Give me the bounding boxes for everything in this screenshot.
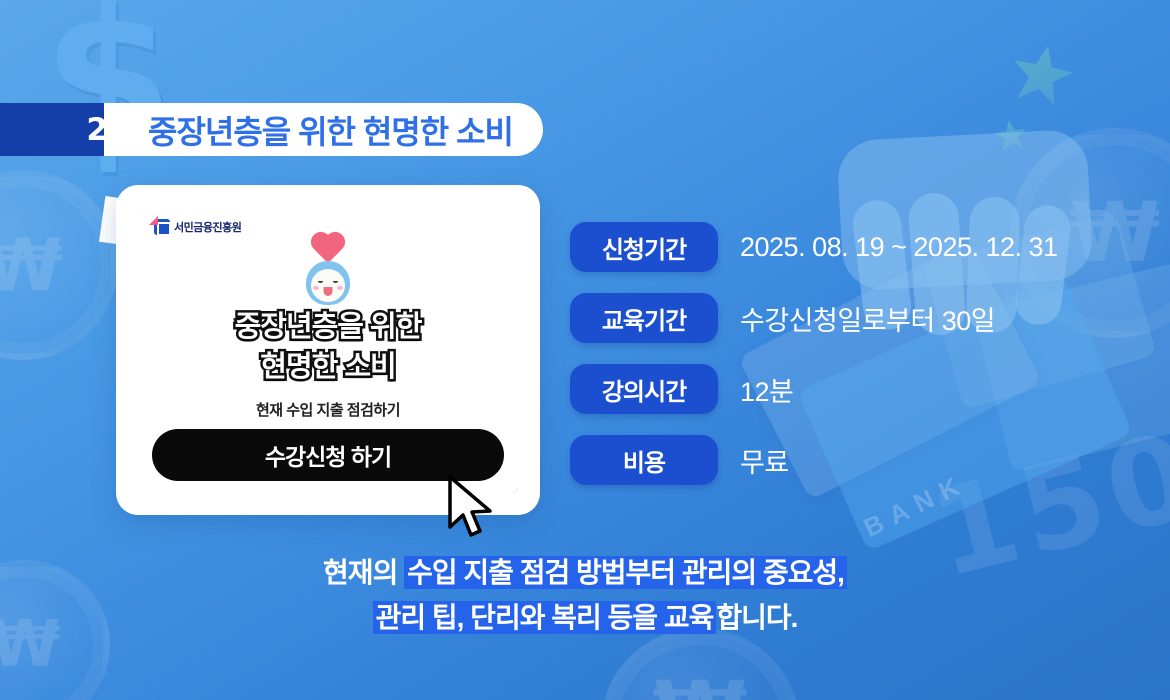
course-thumbnail-card[interactable]: 서민금융진흥원 중장년층을 위한 현명한 소비 현재 수입 지출 점검하기 [116,185,540,515]
section-header: 2 중장년층을 위한 현명한 소비 [0,103,543,156]
description-line-2: 관리 팁, 단리와 복리 등을 교육합니다. [0,595,1170,640]
thumbnail-title: 중장년층을 위한 현명한 소비 [138,307,518,387]
info-row-application-period: 신청기간 2025. 08. 19 ~ 2025. 12. 31 [570,222,1058,272]
mascot-eye-left [318,280,323,283]
section-title-pill: 중장년층을 위한 현명한 소비 [104,103,543,156]
description-highlight-1: 수입 지출 점검 방법부터 관리의 중요성, [404,556,847,589]
logo-mark-icon [154,219,170,235]
logo-text: 서민금융진흥원 [174,219,241,235]
heart-icon [314,235,342,263]
info-label: 교육기간 [602,301,686,336]
info-value: 무료 [740,441,789,480]
info-row-cost: 비용 무료 [570,435,1058,485]
info-label: 강의시간 [602,372,686,407]
info-label-badge: 신청기간 [570,222,718,272]
thumbnail-subtitle: 현재 수입 지출 점검하기 [138,399,518,420]
mascot-cheek-right [337,286,343,290]
info-label-badge: 교육기간 [570,293,718,343]
organization-logo: 서민금융진흥원 [154,219,241,235]
course-description: 현재의 수입 지출 점검 방법부터 관리의 중요성, 관리 팁, 단리와 복리 … [0,550,1170,641]
course-info-list: 신청기간 2025. 08. 19 ~ 2025. 12. 31 교육기간 수강… [570,222,1058,506]
enroll-button-label: 수강신청 하기 [265,438,391,472]
info-value: 수강신청일로부터 30일 [740,299,995,338]
mascot-face [311,269,345,302]
description-highlight-2: 관리 팁, 단리와 복리 등을 교육 [373,601,717,634]
thumbnail-title-line-2: 현명한 소비 [138,347,518,387]
description-plain-1: 현재의 [323,557,404,588]
won-symbol: ₩ [607,635,793,700]
page-title: 중장년층을 위한 현명한 소비 [148,107,513,153]
thumbnail-title-line-1: 중장년층을 위한 [138,307,518,347]
description-line-1: 현재의 수입 지출 점검 방법부터 관리의 중요성, [0,550,1170,595]
info-label-badge: 강의시간 [570,364,718,414]
thumbnail-image: 서민금융진흥원 중장년층을 위한 현명한 소비 현재 수입 지출 점검하기 [138,211,518,493]
enroll-button[interactable]: 수강신청 하기 [152,429,504,481]
info-value: 2025. 08. 19 ~ 2025. 12. 31 [740,232,1058,263]
mouse-cursor-icon [446,475,498,541]
mascot-cheek-left [313,286,319,290]
info-row-education-period: 교육기간 수강신청일로부터 30일 [570,293,1058,343]
info-row-lecture-time: 강의시간 12분 [570,364,1058,414]
won-symbol: ₩ [0,177,111,353]
won-coin-icon-top-left: ₩ [0,170,118,360]
star-icon-large [1007,39,1078,108]
mascot-mouth [324,287,333,296]
mascot-character-icon [297,239,359,311]
info-label: 신청기간 [602,230,686,265]
info-label: 비용 [623,443,665,478]
thumbnail-frame: 서민금융진흥원 중장년층을 위한 현명한 소비 현재 수입 지출 점검하기 [116,185,540,515]
mascot-eye-right [333,280,338,283]
description-plain-2: 합니다. [716,602,797,633]
info-label-badge: 비용 [570,435,718,485]
info-value: 12분 [740,370,793,409]
